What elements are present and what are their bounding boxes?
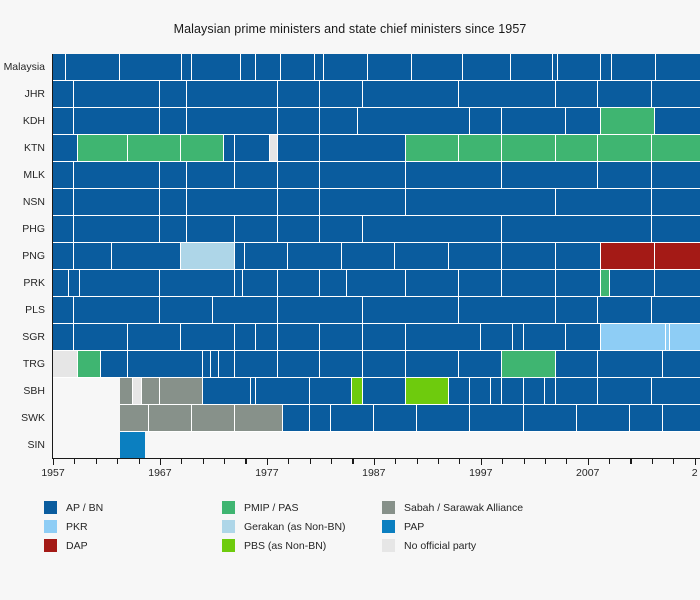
timeline-segment[interactable] <box>652 81 700 108</box>
timeline-segment[interactable] <box>320 216 363 243</box>
timeline-segment[interactable] <box>566 324 600 351</box>
timeline-segment[interactable] <box>213 297 277 324</box>
timeline-segment[interactable] <box>278 135 321 162</box>
x-axis-tick <box>459 459 460 464</box>
timeline-segment[interactable] <box>601 270 611 297</box>
legend-swatch-icon <box>382 520 395 533</box>
timeline-segment[interactable] <box>120 54 182 81</box>
x-axis-tick <box>673 459 674 464</box>
timeline-segment[interactable] <box>655 243 700 270</box>
legend-item[interactable]: PBS (as Non-BN) <box>222 536 346 555</box>
timeline-segment[interactable] <box>558 54 601 81</box>
timeline-segment[interactable] <box>511 54 554 81</box>
timeline-segment[interactable] <box>160 270 235 297</box>
timeline-segment[interactable] <box>245 243 288 270</box>
timeline-segment[interactable] <box>74 324 127 351</box>
x-axis-tick <box>203 459 204 464</box>
timeline-segment[interactable] <box>182 54 192 81</box>
timeline-segment[interactable] <box>352 378 363 405</box>
timeline-segment[interactable] <box>235 162 278 189</box>
timeline-segment[interactable] <box>101 351 128 378</box>
timeline-segment[interactable] <box>320 351 363 378</box>
timeline-segment[interactable] <box>630 405 662 432</box>
timeline-segment[interactable] <box>363 378 406 405</box>
x-axis-tick <box>53 459 54 465</box>
timeline-segment[interactable] <box>556 81 599 108</box>
timeline-segment[interactable] <box>78 351 102 378</box>
legend-item[interactable]: Gerakan (as Non-BN) <box>222 517 346 536</box>
x-axis-tick-label: 2 <box>692 467 698 479</box>
timeline-segment[interactable] <box>203 378 251 405</box>
x-axis-tick <box>74 459 75 464</box>
timeline-segment[interactable] <box>53 216 74 243</box>
timeline-segment[interactable] <box>235 135 270 162</box>
y-axis-tick-label: SIN <box>0 432 45 459</box>
timeline-segment[interactable] <box>160 189 187 216</box>
x-axis-tick <box>502 459 503 464</box>
timeline-segment[interactable] <box>459 81 555 108</box>
timeline-segment[interactable] <box>187 162 235 189</box>
timeline-segment[interactable] <box>133 378 142 405</box>
timeline-segment[interactable] <box>235 216 278 243</box>
x-axis-tick-label: 1967 <box>148 467 171 479</box>
legend-label: No official party <box>404 540 476 552</box>
timeline-segment[interactable] <box>320 324 363 351</box>
timeline-row <box>53 270 700 297</box>
timeline-row <box>53 216 700 243</box>
x-axis-tick <box>438 459 439 464</box>
timeline-segment[interactable] <box>406 270 459 297</box>
timeline-segment[interactable] <box>652 378 700 405</box>
y-axis-tick-label: TRG <box>0 351 45 378</box>
timeline-segment[interactable] <box>219 351 235 378</box>
timeline-segment[interactable] <box>470 378 491 405</box>
timeline-segment[interactable] <box>556 189 652 216</box>
timeline-segment[interactable] <box>342 243 395 270</box>
timeline-segment[interactable] <box>187 81 278 108</box>
timeline-segment[interactable] <box>368 54 412 81</box>
timeline-segment[interactable] <box>502 135 555 162</box>
y-axis-tick-label: PHG <box>0 216 45 243</box>
timeline-row <box>53 378 700 405</box>
timeline-segment[interactable] <box>655 108 700 135</box>
timeline-segment[interactable] <box>160 108 187 135</box>
timeline-segment[interactable] <box>256 324 277 351</box>
x-axis-tick <box>96 459 97 464</box>
timeline-segment[interactable] <box>324 54 369 81</box>
timeline-segment[interactable] <box>459 297 555 324</box>
x-axis-tick <box>245 459 246 464</box>
x-axis-tick <box>374 459 375 465</box>
x-axis-tick <box>566 459 567 464</box>
timeline-segment[interactable] <box>142 378 160 405</box>
x-axis-tick <box>481 459 482 465</box>
y-axis-tick-label: KTN <box>0 135 45 162</box>
timeline-segment[interactable] <box>320 108 357 135</box>
y-axis-tick-label: SGR <box>0 324 45 351</box>
timeline-segment[interactable] <box>128 351 203 378</box>
timeline-segment[interactable] <box>53 243 74 270</box>
timeline-segment[interactable] <box>598 81 651 108</box>
timeline-segment[interactable] <box>281 54 315 81</box>
timeline-segment[interactable] <box>406 351 459 378</box>
timeline-row <box>53 108 700 135</box>
timeline-segment[interactable] <box>601 108 656 135</box>
timeline-segment[interactable] <box>203 351 212 378</box>
legend-label: PKR <box>66 521 88 533</box>
timeline-segment[interactable] <box>235 405 283 432</box>
timeline-segment[interactable] <box>491 378 502 405</box>
timeline-segment[interactable] <box>470 405 523 432</box>
x-axis-tick <box>267 459 268 465</box>
timeline-segment[interactable] <box>347 270 406 297</box>
timeline-segment[interactable] <box>513 324 524 351</box>
timeline-row <box>53 162 700 189</box>
legend-column: PMIP / PASGerakan (as Non-BN)PBS (as Non… <box>222 498 346 555</box>
timeline-segment[interactable] <box>556 135 599 162</box>
y-axis-tick-label: KDH <box>0 108 45 135</box>
timeline-segment[interactable] <box>160 378 203 405</box>
timeline-segment[interactable] <box>406 378 449 405</box>
timeline-segment[interactable] <box>310 405 331 432</box>
timeline-segment[interactable] <box>598 297 651 324</box>
timeline-segment[interactable] <box>363 351 406 378</box>
timeline-segment[interactable] <box>112 243 182 270</box>
timeline-segment[interactable] <box>598 135 651 162</box>
timeline-segment[interactable] <box>74 81 160 108</box>
timeline-segment[interactable] <box>556 378 599 405</box>
legend-label: DAP <box>66 540 88 552</box>
timeline-segment[interactable] <box>235 324 256 351</box>
legend-swatch-icon <box>44 539 57 552</box>
timeline-segment[interactable] <box>320 135 406 162</box>
timeline-segment[interactable] <box>120 378 133 405</box>
legend-item[interactable]: No official party <box>382 536 523 555</box>
timeline-segment[interactable] <box>320 81 363 108</box>
timeline-row <box>53 432 700 459</box>
y-axis-tick-label: SBH <box>0 378 45 405</box>
timeline-segment[interactable] <box>187 108 278 135</box>
timeline-segment[interactable] <box>556 297 599 324</box>
timeline-segment[interactable] <box>278 81 321 108</box>
timeline-segment[interactable] <box>187 189 278 216</box>
timeline-segment[interactable] <box>652 135 700 162</box>
timeline-segment[interactable] <box>598 378 651 405</box>
timeline-segment[interactable] <box>363 81 459 108</box>
timeline-row <box>53 189 700 216</box>
legend-label: PBS (as Non-BN) <box>244 540 326 552</box>
timeline-segment[interactable] <box>160 162 187 189</box>
timeline-segment[interactable] <box>601 324 666 351</box>
timeline-segment[interactable] <box>363 324 406 351</box>
timeline-segment[interactable] <box>502 216 652 243</box>
x-axis-tick <box>310 459 311 464</box>
timeline-segment[interactable] <box>556 270 601 297</box>
x-axis-tick <box>288 459 289 464</box>
timeline-segment[interactable] <box>449 243 502 270</box>
timeline-segment[interactable] <box>502 270 555 297</box>
timeline-segment[interactable] <box>656 54 700 81</box>
timeline-segment[interactable] <box>278 189 321 216</box>
timeline-row <box>53 324 700 351</box>
plot-area <box>53 54 700 458</box>
timeline-segment[interactable] <box>278 108 321 135</box>
timeline-segment[interactable] <box>192 54 241 81</box>
x-axis-tick <box>630 459 631 464</box>
timeline-segment[interactable] <box>502 162 598 189</box>
y-axis-tick-label: JHR <box>0 81 45 108</box>
timeline-segment[interactable] <box>502 351 555 378</box>
timeline-segment[interactable] <box>406 189 556 216</box>
y-axis-tick-label: PNG <box>0 243 45 270</box>
timeline-segment[interactable] <box>459 270 502 297</box>
timeline-segment[interactable] <box>270 135 277 162</box>
timeline-row <box>53 135 700 162</box>
timeline-segment[interactable] <box>80 270 160 297</box>
x-axis-line <box>53 458 700 459</box>
y-axis-tick-label: SWK <box>0 405 45 432</box>
timeline-row <box>53 351 700 378</box>
timeline-segment[interactable] <box>406 324 481 351</box>
timeline-segment[interactable] <box>502 108 566 135</box>
timeline-segment[interactable] <box>598 351 662 378</box>
legend-swatch-icon <box>222 501 235 514</box>
timeline-segment[interactable] <box>74 243 111 270</box>
legend-item[interactable]: PAP <box>382 517 523 536</box>
x-axis-tick <box>139 459 140 464</box>
timeline-segment[interactable] <box>610 270 655 297</box>
legend-label: PAP <box>404 521 424 533</box>
x-axis-tick <box>160 459 161 465</box>
timeline-segment[interactable] <box>655 270 700 297</box>
y-axis-tick-label: Malaysia <box>0 54 45 81</box>
legend-item[interactable]: DAP <box>44 536 103 555</box>
timeline-segment[interactable] <box>556 351 599 378</box>
timeline-segment[interactable] <box>128 135 181 162</box>
x-axis-tick-label: 1997 <box>469 467 492 479</box>
legend-label: AP / BN <box>66 502 103 514</box>
legend-item[interactable]: PMIP / PAS <box>222 498 346 517</box>
timeline-segment[interactable] <box>374 405 417 432</box>
timeline-segment[interactable] <box>652 189 700 216</box>
timeline-segment[interactable] <box>320 189 406 216</box>
legend-swatch-icon <box>222 539 235 552</box>
timeline-segment[interactable] <box>278 162 321 189</box>
timeline-row <box>53 405 700 432</box>
legend-item[interactable]: Sabah / Sarawak Alliance <box>382 498 523 517</box>
timeline-segment[interactable] <box>53 162 74 189</box>
y-axis-tick-label: MLK <box>0 162 45 189</box>
legend-swatch-icon <box>382 539 395 552</box>
timeline-segment[interactable] <box>78 135 128 162</box>
timeline-segment[interactable] <box>283 405 310 432</box>
timeline-segment[interactable] <box>524 324 567 351</box>
timeline-segment[interactable] <box>545 378 556 405</box>
timeline-segment[interactable] <box>459 351 502 378</box>
timeline-row <box>53 243 700 270</box>
timeline-segment[interactable] <box>53 270 69 297</box>
x-axis-tick <box>117 459 118 464</box>
timeline-segment[interactable] <box>53 108 74 135</box>
x-axis-tick <box>417 459 418 464</box>
timeline-segment[interactable] <box>53 189 74 216</box>
timeline-segment[interactable] <box>652 297 700 324</box>
timeline-segment[interactable] <box>363 216 502 243</box>
timeline-segment[interactable] <box>502 378 523 405</box>
timeline-row <box>53 81 700 108</box>
timeline-segment[interactable] <box>463 54 511 81</box>
timeline-row <box>53 297 700 324</box>
timeline-segment[interactable] <box>187 216 235 243</box>
timeline-segment[interactable] <box>470 108 502 135</box>
timeline-segment[interactable] <box>358 108 470 135</box>
timeline-segment[interactable] <box>53 324 74 351</box>
timeline-segment[interactable] <box>235 351 278 378</box>
timeline-segment[interactable] <box>149 405 192 432</box>
timeline-segment[interactable] <box>663 351 700 378</box>
y-axis-tick-label: NSN <box>0 189 45 216</box>
timeline-segment[interactable] <box>278 351 321 378</box>
legend-swatch-icon <box>44 501 57 514</box>
timeline-segment[interactable] <box>288 243 341 270</box>
x-axis-tick <box>588 459 589 465</box>
x-axis-tick <box>181 459 182 464</box>
timeline-segment[interactable] <box>224 135 235 162</box>
timeline-segment[interactable] <box>278 297 364 324</box>
timeline-segment[interactable] <box>192 405 235 432</box>
timeline-segment[interactable] <box>556 243 601 270</box>
timeline-segment[interactable] <box>53 351 78 378</box>
timeline-segment[interactable] <box>278 270 321 297</box>
timeline-segment[interactable] <box>256 54 281 81</box>
timeline-segment[interactable] <box>256 378 309 405</box>
legend-swatch-icon <box>222 520 235 533</box>
timeline-segment[interactable] <box>235 270 244 297</box>
legend-item[interactable]: AP / BN <box>44 498 103 517</box>
x-axis-tick <box>395 459 396 464</box>
timeline-segment[interactable] <box>74 189 160 216</box>
timeline-segment[interactable] <box>53 297 74 324</box>
timeline-segment[interactable] <box>235 243 246 270</box>
timeline-segment[interactable] <box>459 135 502 162</box>
timeline-segment[interactable] <box>395 243 448 270</box>
x-axis-tick <box>331 459 332 464</box>
x-axis-tick <box>695 459 696 465</box>
x-axis-tick-label: 1987 <box>362 467 385 479</box>
timeline-segment[interactable] <box>53 81 74 108</box>
timeline-segment[interactable] <box>320 162 406 189</box>
timeline-segment[interactable] <box>315 54 324 81</box>
x-axis-tick <box>352 459 353 464</box>
timeline-segment[interactable] <box>278 216 321 243</box>
timeline-row <box>53 54 700 81</box>
x-axis-tick-label: 1957 <box>41 467 64 479</box>
timeline-segment[interactable] <box>406 135 459 162</box>
timeline-segment[interactable] <box>181 243 234 270</box>
timeline-segment[interactable] <box>310 378 353 405</box>
timeline-segment[interactable] <box>601 54 613 81</box>
x-axis-tick <box>545 459 546 464</box>
page-title: Malaysian prime ministers and state chie… <box>0 22 700 36</box>
timeline-segment[interactable] <box>53 135 78 162</box>
timeline-segment[interactable] <box>53 54 66 81</box>
timeline-segment[interactable] <box>160 81 187 108</box>
timeline-segment[interactable] <box>524 405 577 432</box>
timeline-segment[interactable] <box>670 324 700 351</box>
x-axis-tick <box>652 459 653 464</box>
timeline-segment[interactable] <box>598 162 651 189</box>
legend-label: PMIP / PAS <box>244 502 298 514</box>
y-axis-tick-label: PRK <box>0 270 45 297</box>
legend-swatch-icon <box>44 520 57 533</box>
timeline-segment[interactable] <box>502 243 555 270</box>
timeline-segment[interactable] <box>524 378 545 405</box>
legend-item[interactable]: PKR <box>44 517 103 536</box>
x-axis-tick <box>609 459 610 464</box>
timeline-chart: Malaysian prime ministers and state chie… <box>0 0 700 600</box>
timeline-segment[interactable] <box>74 216 160 243</box>
timeline-segment[interactable] <box>566 108 600 135</box>
timeline-segment[interactable] <box>160 216 187 243</box>
timeline-segment[interactable] <box>652 162 700 189</box>
legend-label: Gerakan (as Non-BN) <box>244 521 346 533</box>
timeline-segment[interactable] <box>449 378 470 405</box>
timeline-segment[interactable] <box>577 405 630 432</box>
timeline-segment[interactable] <box>211 351 218 378</box>
x-axis-tick <box>524 459 525 464</box>
timeline-segment[interactable] <box>74 162 160 189</box>
legend-label: Sabah / Sarawak Alliance <box>404 502 523 514</box>
legend-column: Sabah / Sarawak AlliancePAPNo official p… <box>382 498 523 555</box>
timeline-segment[interactable] <box>74 297 160 324</box>
timeline-segment[interactable] <box>663 405 700 432</box>
timeline-segment[interactable] <box>69 270 80 297</box>
timeline-segment[interactable] <box>160 297 213 324</box>
legend: AP / BNPKRDAPPMIP / PASGerakan (as Non-B… <box>0 498 700 568</box>
timeline-segment[interactable] <box>241 54 256 81</box>
timeline-segment[interactable] <box>417 405 470 432</box>
timeline-segment[interactable] <box>243 270 277 297</box>
timeline-segment[interactable] <box>128 324 181 351</box>
x-axis-tick <box>224 459 225 464</box>
x-axis-tick-label: 1977 <box>255 467 278 479</box>
timeline-segment[interactable] <box>181 324 234 351</box>
timeline-segment[interactable] <box>363 297 459 324</box>
timeline-segment[interactable] <box>120 405 149 432</box>
timeline-segment[interactable] <box>652 216 700 243</box>
timeline-segment[interactable] <box>320 270 347 297</box>
timeline-segment[interactable] <box>278 324 321 351</box>
timeline-segment[interactable] <box>66 54 121 81</box>
legend-swatch-icon <box>382 501 395 514</box>
timeline-segment[interactable] <box>412 54 462 81</box>
timeline-segment[interactable] <box>74 108 160 135</box>
timeline-segment[interactable] <box>120 432 145 459</box>
timeline-segment[interactable] <box>406 162 502 189</box>
timeline-segment[interactable] <box>601 243 656 270</box>
timeline-segment[interactable] <box>181 135 224 162</box>
timeline-segment[interactable] <box>331 405 374 432</box>
x-axis-tick-label: 2007 <box>576 467 599 479</box>
timeline-segment[interactable] <box>612 54 656 81</box>
y-axis: MalaysiaJHRKDHKTNMLKNSNPHGPNGPRKPLSSGRTR… <box>0 54 48 458</box>
timeline-segment[interactable] <box>481 324 513 351</box>
legend-column: AP / BNPKRDAP <box>44 498 103 555</box>
y-axis-tick-label: PLS <box>0 297 45 324</box>
